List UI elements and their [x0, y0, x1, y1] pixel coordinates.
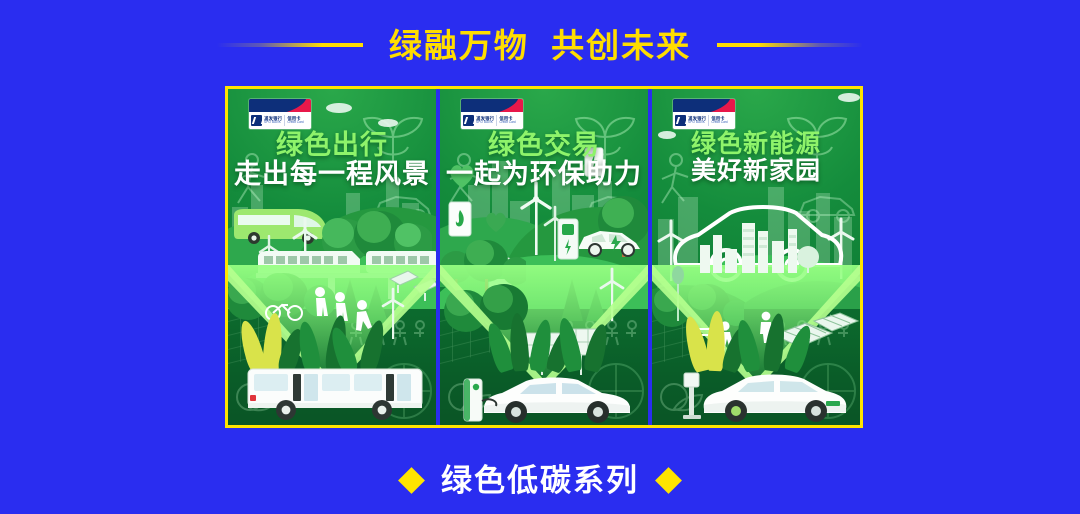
- frond: [582, 322, 611, 373]
- spd-mark-icon: [675, 115, 686, 126]
- poster3-headline-line1: 绿色新能源: [652, 131, 860, 158]
- header: 绿融万物 共创未来: [0, 18, 1080, 72]
- poster1-headline-line1: 绿色出行: [228, 131, 436, 160]
- ev-charging-post-icon: [682, 371, 702, 419]
- frond: [783, 323, 816, 374]
- cloud-icon: [326, 103, 352, 113]
- brand-logo: 浦发银行 SPD BANK 信用卡 Credit Card: [249, 99, 311, 129]
- poster3-foliage: [652, 293, 860, 371]
- poster3-headline-line2: 美好新家园: [652, 158, 860, 185]
- white-electric-car-icon: [700, 371, 852, 423]
- frond: [508, 313, 530, 372]
- logo-divider: [284, 115, 285, 126]
- logo-divider: [708, 115, 709, 126]
- poster2-headline: 绿色交易 一起为环保助力: [440, 131, 648, 189]
- brand-product: 信用卡 Credit Card: [499, 117, 515, 125]
- logo-body: 浦发银行 SPD BANK 信用卡 Credit Card: [673, 112, 735, 129]
- brand-product-en: Credit Card: [287, 121, 303, 124]
- brand-product: 信用卡 Credit Card: [287, 117, 303, 125]
- spd-mark-icon: [251, 115, 262, 126]
- brand-logo: 浦发银行 SPD BANK 信用卡 Credit Card: [673, 99, 735, 129]
- brand-logo: 浦发银行 SPD BANK 信用卡 Credit Card: [461, 99, 523, 129]
- brand-name-en: SPD BANK: [476, 121, 494, 124]
- poster2-headline-line2: 一起为环保助力: [440, 160, 648, 189]
- brand-product-en: Credit Card: [711, 121, 727, 124]
- logo-body: 浦发银行 SPD BANK 信用卡 Credit Card: [461, 112, 523, 129]
- cloud-icon: [838, 93, 860, 102]
- brand-name: 浦发银行 SPD BANK: [476, 117, 494, 125]
- brand-name-en: SPD BANK: [688, 121, 706, 124]
- electric-car-icon: [576, 223, 644, 257]
- diamond-icon-right: [655, 467, 682, 494]
- logo-banner: [249, 99, 311, 112]
- logo-divider: [496, 115, 497, 126]
- poster-green-transaction[interactable]: 浦发银行 SPD BANK 信用卡 Credit Card 绿色交易 一起为环保…: [440, 89, 648, 425]
- brand-name: 浦发银行 SPD BANK: [688, 117, 706, 125]
- poster-gallery: 浦发银行 SPD BANK 信用卡 Credit Card 绿色出行 走出每一程…: [225, 86, 863, 428]
- poster-green-travel[interactable]: 浦发银行 SPD BANK 信用卡 Credit Card 绿色出行 走出每一程…: [228, 89, 436, 425]
- logo-body: 浦发银行 SPD BANK 信用卡 Credit Card: [249, 112, 311, 129]
- footer: 绿色低碳系列: [0, 458, 1080, 502]
- poster1-headline-line2: 走出每一程风景: [228, 160, 436, 189]
- brand-name-en: SPD BANK: [264, 121, 282, 124]
- header-title: 绿融万物 共创未来: [389, 29, 691, 62]
- diamond-icon-left: [398, 467, 425, 494]
- cloud-icon: [378, 119, 398, 127]
- white-electric-sedan-icon: [480, 373, 636, 423]
- heart-leaf-icon: [484, 211, 508, 233]
- white-city-bus-icon: [246, 363, 426, 421]
- poster3-headline: 绿色新能源 美好新家园: [652, 131, 860, 185]
- banner-root: 绿融万物 共创未来: [0, 0, 1080, 514]
- poster1-headline: 绿色出行 走出每一程风景: [228, 131, 436, 189]
- poster-new-energy[interactable]: 浦发银行 SPD BANK 信用卡 Credit Card 绿色新能源 美好新家…: [652, 89, 860, 425]
- brand-product-en: Credit Card: [499, 121, 515, 124]
- inner-city-skyline-icon: [696, 211, 820, 273]
- brand-product: 信用卡 Credit Card: [711, 117, 727, 125]
- header-rule-left: [217, 43, 363, 47]
- brand-name: 浦发银行 SPD BANK: [264, 117, 282, 125]
- poster2-headline-line1: 绿色交易: [440, 131, 648, 160]
- poster2-foliage: [440, 293, 648, 371]
- poster1-foliage: [228, 293, 436, 371]
- spd-mark-icon: [463, 115, 474, 126]
- header-rule-right: [717, 43, 863, 47]
- logo-banner: [673, 99, 735, 112]
- logo-banner: [461, 99, 523, 112]
- footer-title: 绿色低碳系列: [441, 465, 639, 496]
